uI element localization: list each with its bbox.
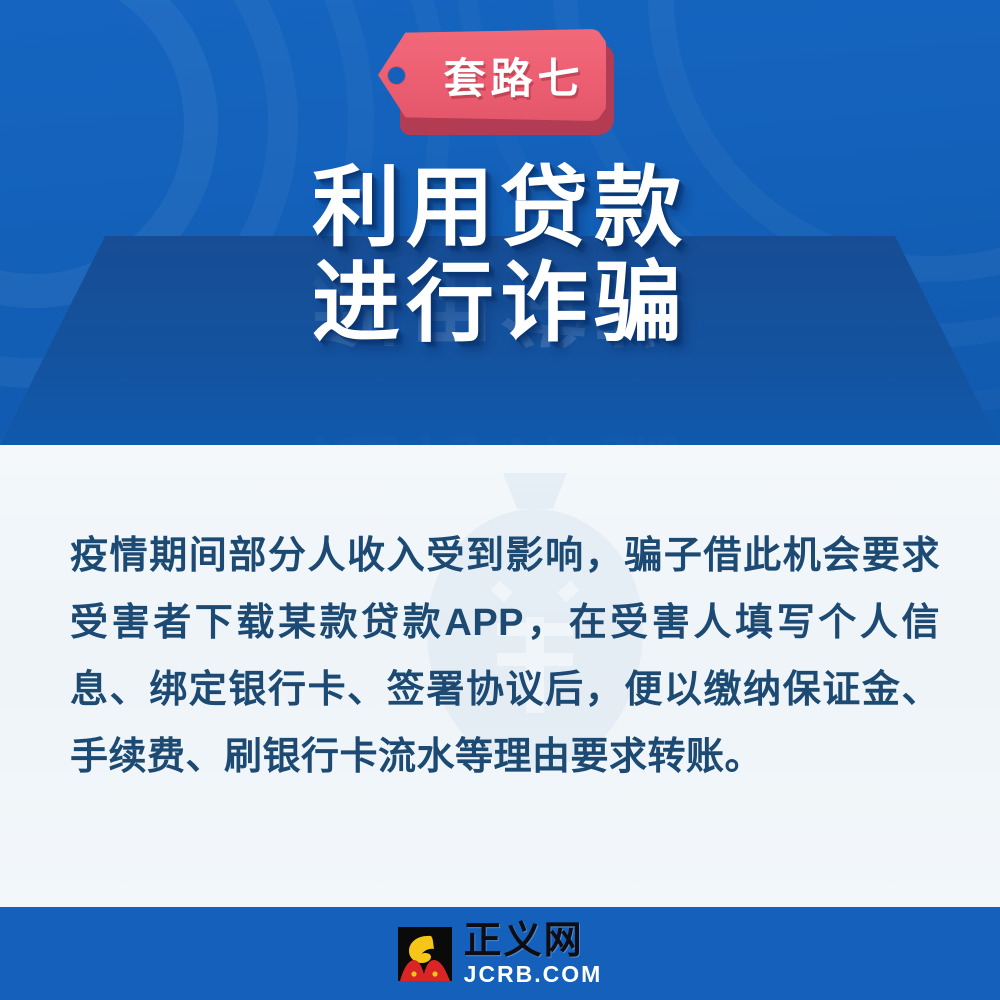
logo-wordmark: 正义网 JCRB.COM [464,922,603,986]
logo-name-en: JCRB.COM [464,963,603,986]
footer-section: 正义网 JCRB.COM [0,907,1000,1000]
tag-label: 套路七 [422,29,606,121]
hero-title-line-2: 进行诈骗 [0,255,1000,350]
section-tag-badge: 套路七 [378,29,623,134]
tag-hole-icon [388,67,405,84]
body-paragraph: 疫情期间部分人收入受到影响，骗子借此机会要求受害者下载某款贷款APP，在受害人填… [70,523,940,791]
hero-title-line-1: 利用贷款 [0,160,1000,255]
jcrb-seal-icon [398,927,452,981]
site-logo[interactable]: 正义网 JCRB.COM [398,922,603,986]
poster-root: 套路七 利用贷款 利用贷款 进行诈骗 进行诈骗 疫情期间部分人收入受到影响， [0,0,1000,1000]
hero-title-block: 利用贷款 利用贷款 进行诈骗 进行诈骗 [0,160,1000,350]
hero-section: 套路七 利用贷款 利用贷款 进行诈骗 进行诈骗 [0,0,1000,445]
body-section: 疫情期间部分人收入受到影响，骗子借此机会要求受害者下载某款贷款APP，在受害人填… [0,445,1000,907]
logo-name-cn: 正义网 [464,922,584,960]
